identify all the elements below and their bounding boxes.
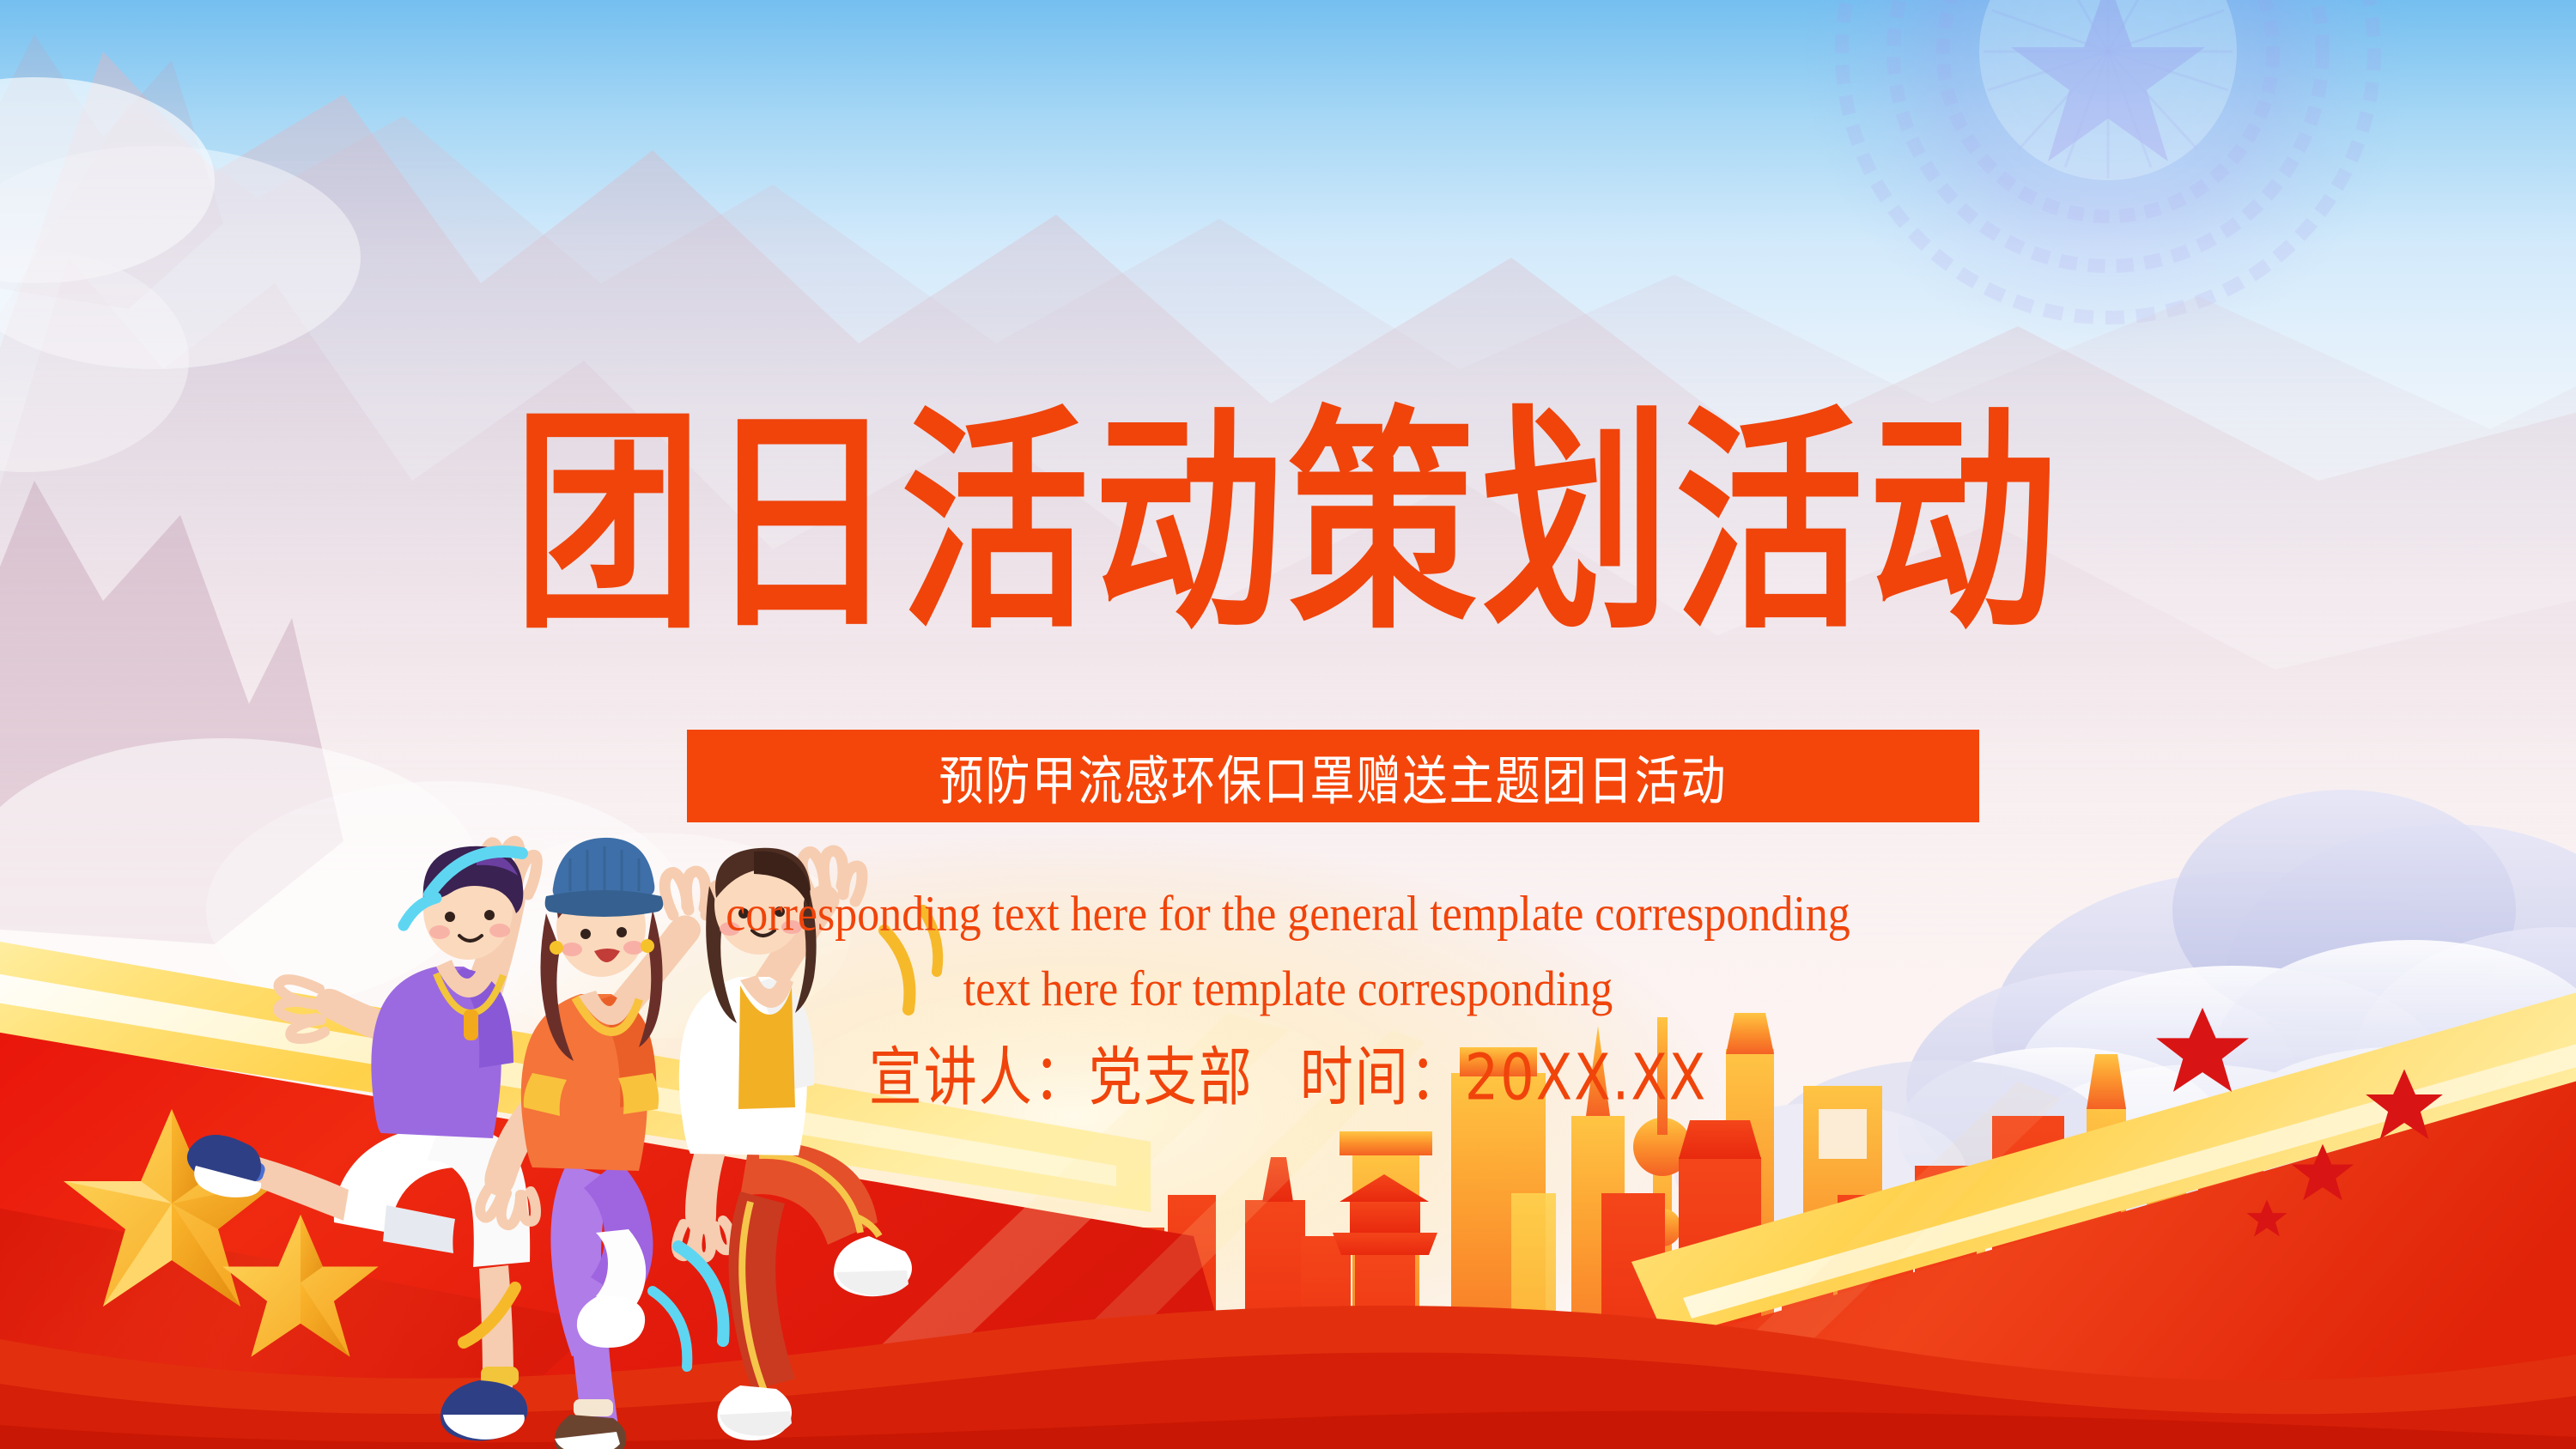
speaker-label: 宣讲人：: [869, 1040, 1089, 1115]
english-line-2: text here for template corresponding: [0, 952, 2576, 1027]
speaker-and-time-line: 宣讲人：党支部时间：20XX.XX: [0, 1025, 2576, 1118]
subtitle-banner-text: 预防甲流感环保口罩赠送主题团日活动: [939, 738, 1727, 815]
english-subtext: corresponding text here for the general …: [0, 877, 2576, 1028]
poster-title: 团日活动策划活动: [513, 405, 2062, 641]
time-value: 20XX.XX: [1465, 1040, 1708, 1115]
subtitle-banner: 预防甲流感环保口罩赠送主题团日活动: [687, 730, 1979, 822]
title-block: 团日活动策划活动: [0, 405, 2576, 590]
poster-canvas: 团日活动策划活动 预防甲流感环保口罩赠送主题团日活动 corresponding…: [0, 0, 2576, 1449]
english-line-1: corresponding text here for the general …: [0, 877, 2576, 952]
time-label: 时间：: [1300, 1040, 1465, 1115]
speaker-value: 党支部: [1089, 1040, 1254, 1115]
